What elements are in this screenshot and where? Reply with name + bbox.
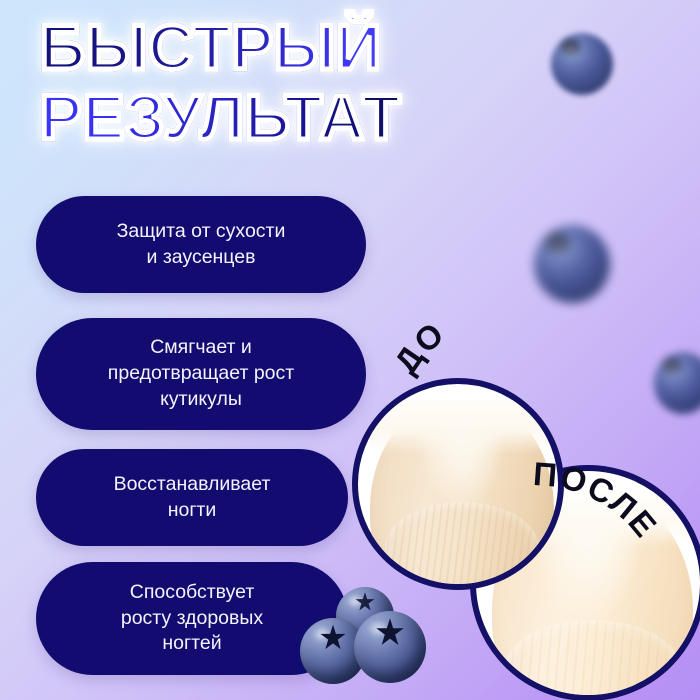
- benefit-pill-1-label: Защита от сухостии заусенцев: [117, 219, 286, 270]
- headline-line-1: БЫСТРЫЙ: [40, 18, 401, 78]
- headline-line-2: РЕЗУЛЬТАТ: [40, 88, 401, 148]
- blueberry-icon: [534, 225, 610, 303]
- before-label-text: ДО: [387, 314, 452, 380]
- benefit-pill-1: Защита от сухостии заусенцев: [36, 196, 366, 293]
- blueberry-icon: [354, 611, 426, 683]
- before-nail-photo: [352, 378, 564, 590]
- benefit-pill-3: Восстанавливаетногти: [36, 449, 348, 546]
- blueberry-cluster-icon: [298, 585, 422, 693]
- benefit-pill-4-label: Способствуетросту здоровыхногтей: [121, 580, 263, 657]
- page-title: БЫСТРЫЙ РЕЗУЛЬТАТ: [40, 18, 401, 149]
- nail-before-image: [370, 400, 554, 590]
- benefit-pill-2: Смягчает ипредотвращает росткутикулы: [36, 318, 366, 430]
- benefit-pill-2-label: Смягчает ипредотвращает росткутикулы: [108, 335, 294, 412]
- promo-poster: БЫСТРЫЙ РЕЗУЛЬТАТ Защита от сухостии зау…: [0, 0, 700, 700]
- blueberry-icon: [551, 33, 613, 95]
- benefit-pill-3-label: Восстанавливаетногти: [114, 472, 271, 523]
- blueberry-icon: [654, 352, 700, 414]
